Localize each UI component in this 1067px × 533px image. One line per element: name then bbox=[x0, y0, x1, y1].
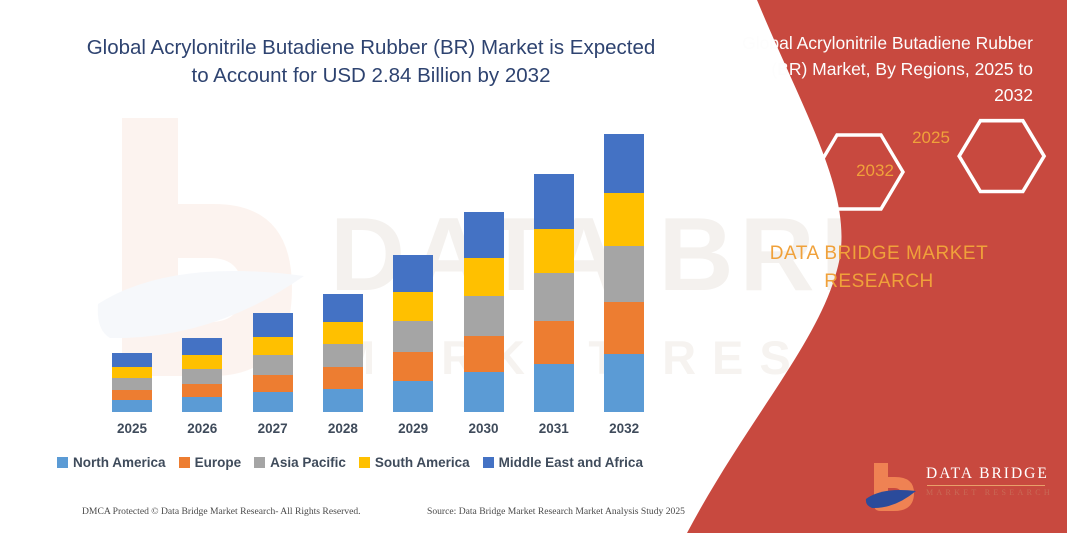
bar-2030 bbox=[464, 212, 504, 412]
bar-segment-north-america-2025 bbox=[112, 400, 152, 412]
bar-segment-middle-east-and-africa-2031 bbox=[534, 174, 574, 229]
hex-badge-2032-label: 2032 bbox=[839, 161, 911, 181]
bar-segment-europe-2029 bbox=[393, 352, 433, 380]
legend-item-europe[interactable]: Europe bbox=[179, 455, 242, 470]
bar-2027 bbox=[253, 313, 293, 412]
data-bridge-logo-text: DATA BRIDGE MARKET RESEARCH bbox=[926, 465, 1053, 497]
bar-segment-north-america-2026 bbox=[182, 397, 222, 412]
logo-title: DATA BRIDGE bbox=[926, 465, 1053, 483]
x-axis-label-2025: 2025 bbox=[97, 421, 167, 436]
x-axis-label-2030: 2030 bbox=[449, 421, 519, 436]
bar-2029 bbox=[393, 255, 433, 412]
panel-brand: DATA BRIDGE MARKET RESEARCH bbox=[729, 240, 1029, 296]
bar-segment-middle-east-and-africa-2028 bbox=[323, 294, 363, 322]
legend-swatch-icon bbox=[359, 457, 370, 468]
logo-subtitle: MARKET RESEARCH bbox=[926, 488, 1053, 497]
bar-segment-asia-pacific-2028 bbox=[323, 344, 363, 367]
legend-item-south-america[interactable]: South America bbox=[359, 455, 470, 470]
bar-segment-europe-2032 bbox=[604, 302, 644, 354]
bar-segment-asia-pacific-2031 bbox=[534, 273, 574, 321]
bar-segment-europe-2028 bbox=[323, 367, 363, 389]
legend-swatch-icon bbox=[483, 457, 494, 468]
bar-segment-north-america-2027 bbox=[253, 392, 293, 412]
bar-segment-europe-2031 bbox=[534, 321, 574, 364]
bar-segment-north-america-2029 bbox=[393, 381, 433, 412]
bar-segment-middle-east-and-africa-2025 bbox=[112, 353, 152, 367]
bar-2031 bbox=[534, 174, 574, 412]
footer-source: Source: Data Bridge Market Research Mark… bbox=[427, 506, 685, 517]
bar-segment-south-america-2026 bbox=[182, 355, 222, 369]
legend-swatch-icon bbox=[254, 457, 265, 468]
x-axis-label-2027: 2027 bbox=[238, 421, 308, 436]
bar-segment-south-america-2028 bbox=[323, 322, 363, 344]
x-axis-label-2032: 2032 bbox=[589, 421, 659, 436]
panel-brand-line-2: RESEARCH bbox=[729, 268, 1029, 296]
bar-segment-asia-pacific-2030 bbox=[464, 296, 504, 336]
bar-segment-asia-pacific-2032 bbox=[604, 246, 644, 303]
bar-segment-europe-2027 bbox=[253, 375, 293, 393]
chart-legend: North AmericaEuropeAsia PacificSouth Ame… bbox=[0, 455, 700, 470]
bar-segment-middle-east-and-africa-2032 bbox=[604, 134, 644, 193]
bar-segment-north-america-2031 bbox=[534, 364, 574, 412]
data-bridge-mark-icon bbox=[864, 461, 922, 515]
legend-label: Europe bbox=[195, 455, 242, 470]
bar-2026 bbox=[182, 338, 222, 412]
bar-segment-south-america-2031 bbox=[534, 229, 574, 273]
bar-2025 bbox=[112, 353, 152, 412]
legend-label: Asia Pacific bbox=[270, 455, 346, 470]
bar-segment-middle-east-and-africa-2026 bbox=[182, 338, 222, 356]
bar-segment-asia-pacific-2025 bbox=[112, 378, 152, 390]
logo-divider bbox=[927, 485, 1045, 486]
bar-segment-middle-east-and-africa-2027 bbox=[253, 313, 293, 336]
x-axis-label-2026: 2026 bbox=[167, 421, 237, 436]
legend-item-middle-east-and-africa[interactable]: Middle East and Africa bbox=[483, 455, 643, 470]
bar-segment-middle-east-and-africa-2030 bbox=[464, 212, 504, 258]
legend-item-asia-pacific[interactable]: Asia Pacific bbox=[254, 455, 346, 470]
bar-2032 bbox=[604, 134, 644, 412]
bar-segment-south-america-2025 bbox=[112, 367, 152, 378]
bar-segment-europe-2025 bbox=[112, 390, 152, 401]
bar-segment-south-america-2027 bbox=[253, 337, 293, 356]
hex-badge-2025-label: 2025 bbox=[895, 128, 967, 148]
footer-copyright: DMCA Protected © Data Bridge Market Rese… bbox=[82, 506, 361, 517]
infographic-canvas: DATA BRIDGE MARKET RESEARCH Global Acryl… bbox=[0, 0, 1067, 533]
bar-segment-asia-pacific-2027 bbox=[253, 355, 293, 375]
x-axis-label-2031: 2031 bbox=[519, 421, 589, 436]
footer: DMCA Protected © Data Bridge Market Rese… bbox=[0, 506, 700, 526]
bar-segment-south-america-2029 bbox=[393, 292, 433, 321]
bar-segment-europe-2030 bbox=[464, 336, 504, 372]
x-axis-label-2029: 2029 bbox=[378, 421, 448, 436]
legend-swatch-icon bbox=[179, 457, 190, 468]
x-axis-labels: 20252026202720282029203020312032 bbox=[0, 421, 700, 443]
bar-segment-south-america-2030 bbox=[464, 258, 504, 295]
bar-segment-asia-pacific-2029 bbox=[393, 321, 433, 352]
data-bridge-logo: DATA BRIDGE MARKET RESEARCH bbox=[864, 459, 1049, 515]
chart-title-line-2: to Account for USD 2.84 Billion by 2032 bbox=[66, 62, 676, 90]
legend-item-north-america[interactable]: North America bbox=[57, 455, 166, 470]
bar-segment-europe-2026 bbox=[182, 384, 222, 398]
chart-title: Global Acrylonitrile Butadiene Rubber (B… bbox=[66, 34, 676, 90]
red-panel: Global Acrylonitrile Butadiene Rubber (B… bbox=[667, 0, 1067, 533]
panel-brand-line-1: DATA BRIDGE MARKET bbox=[729, 240, 1029, 268]
legend-label: Middle East and Africa bbox=[499, 455, 643, 470]
bar-2028 bbox=[323, 294, 363, 412]
bar-segment-north-america-2028 bbox=[323, 389, 363, 412]
chart-title-line-1: Global Acrylonitrile Butadiene Rubber (B… bbox=[66, 34, 676, 62]
legend-swatch-icon bbox=[57, 457, 68, 468]
x-axis-label-2028: 2028 bbox=[308, 421, 378, 436]
legend-label: North America bbox=[73, 455, 166, 470]
bar-segment-asia-pacific-2026 bbox=[182, 369, 222, 384]
legend-label: South America bbox=[375, 455, 470, 470]
bar-segment-north-america-2032 bbox=[604, 354, 644, 412]
bar-segment-north-america-2030 bbox=[464, 372, 504, 412]
bar-segment-south-america-2032 bbox=[604, 193, 644, 246]
bar-segment-middle-east-and-africa-2029 bbox=[393, 255, 433, 291]
